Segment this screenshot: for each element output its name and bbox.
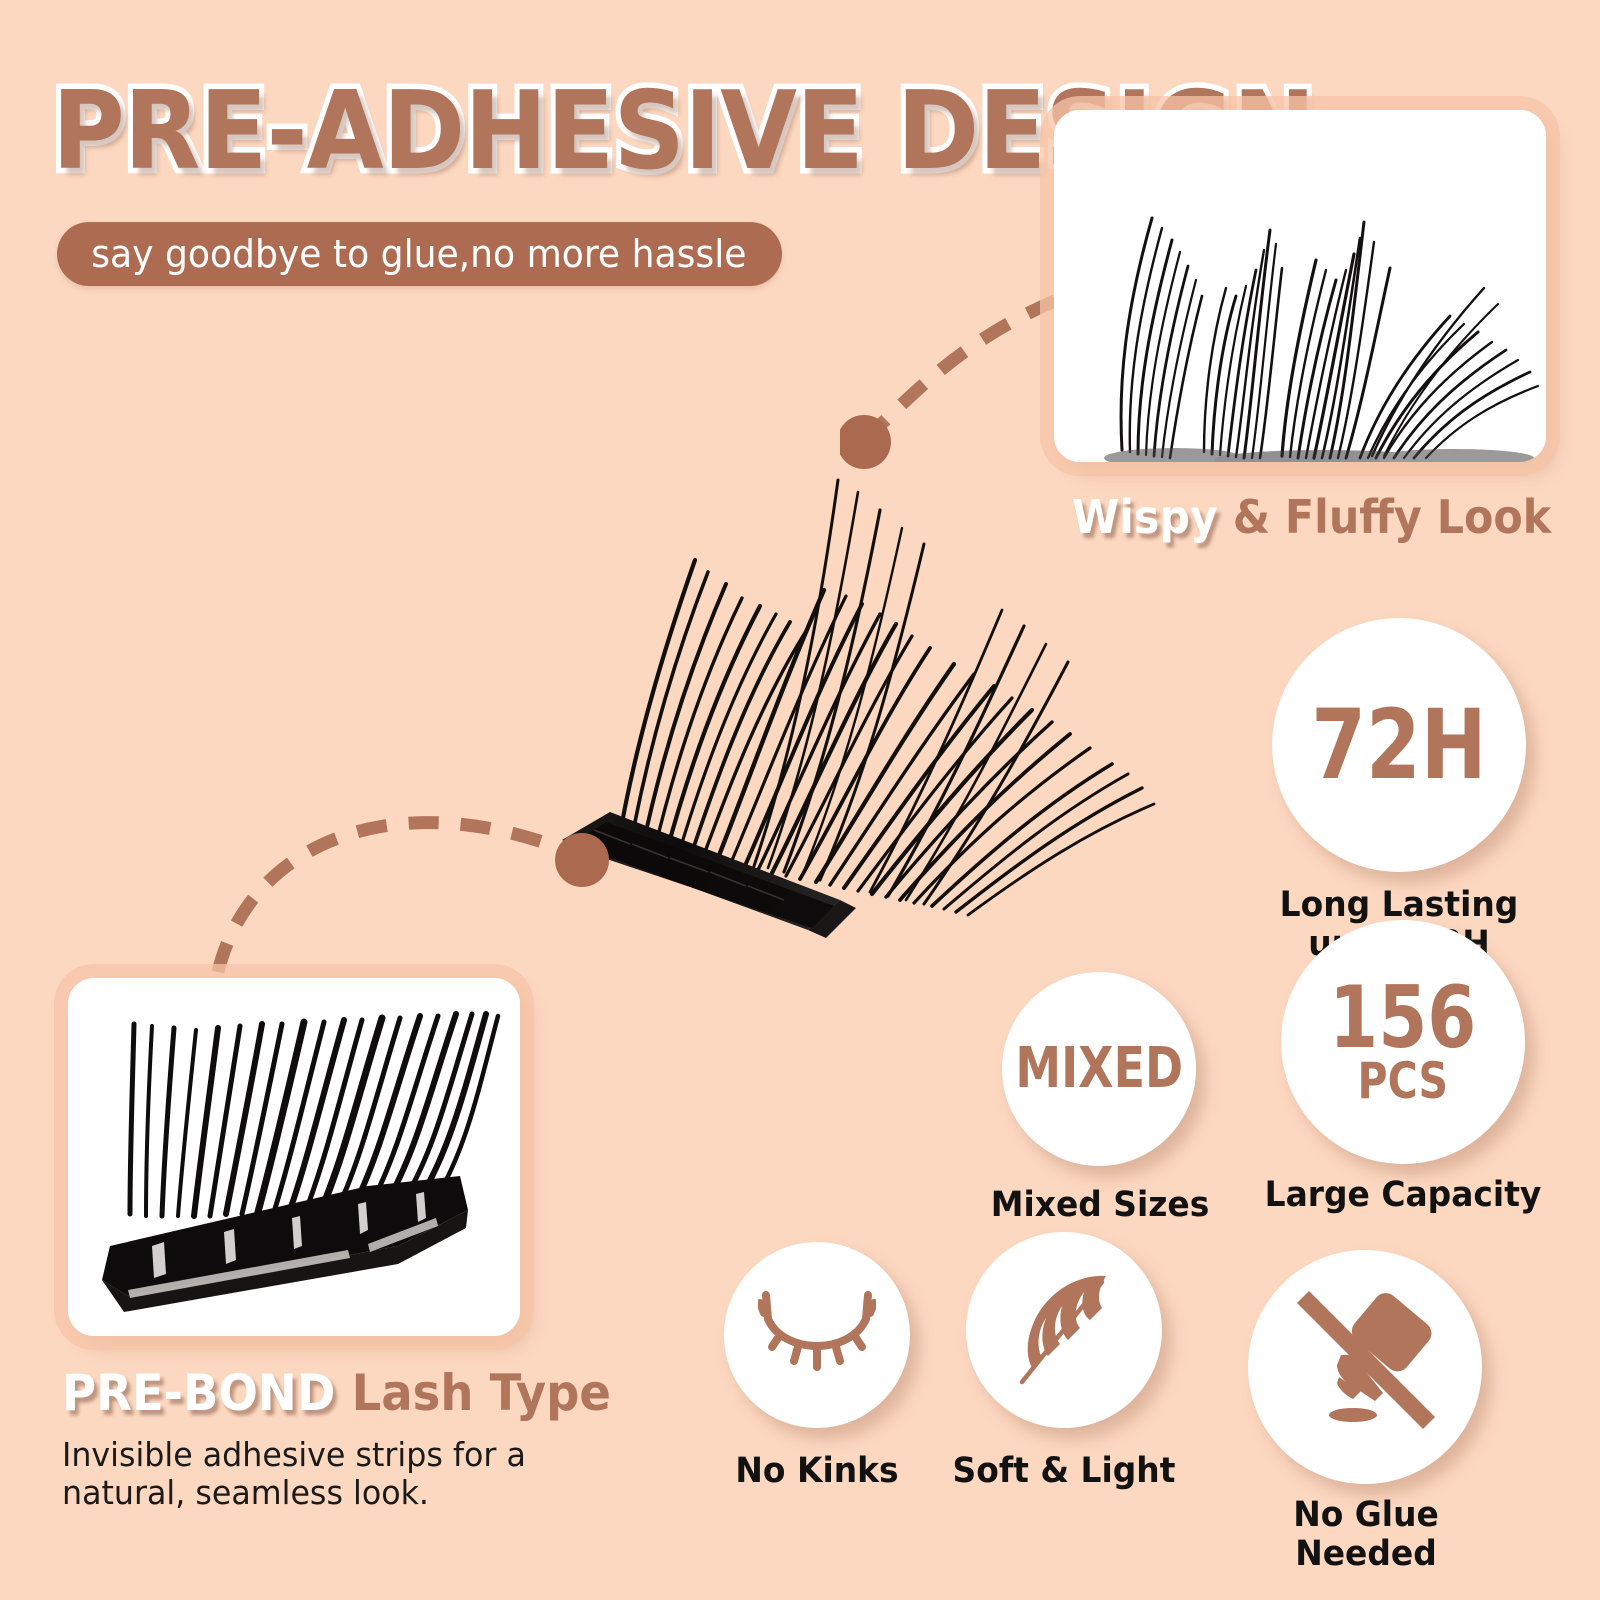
connector-dot-prebond [555,833,609,887]
callout-heading-prebond-brown: Lash Type [352,1364,611,1422]
callout-body-prebond: Invisible adhesive strips for a natural,… [62,1436,638,1513]
callout-heading-wispy: Wispy & Fluffy Look [1072,494,1551,540]
badge-mixed-value: MIXED [1015,1044,1183,1094]
feather-icon [1006,1268,1122,1392]
badge-no-glue[interactable] [1248,1250,1482,1484]
badge-caption-no-kinks: No Kinks [700,1452,935,1491]
callout-heading-prebond: PRE-BOND Lash Type [62,1368,611,1418]
badge-156pcs[interactable]: 156 PCS [1281,920,1525,1164]
subtitle-pill: say goodbye to glue,no more hassle [57,222,782,286]
callout-heading-wispy-white: Wispy [1072,490,1218,544]
photo-card-prebond [68,978,520,1336]
badge-156pcs-value-group: 156 PCS [1329,980,1476,1104]
badge-caption-156pcs: Large Capacity [1237,1176,1570,1215]
callout-heading-wispy-brown: & Fluffy Look [1233,490,1551,544]
closed-eye-lash-icon [758,1289,876,1381]
badge-72h-value: 72H [1311,702,1486,788]
wispy-fluffy-lash-photo [1054,110,1546,462]
photo-card-wispy [1054,110,1546,462]
badge-no-kinks[interactable] [724,1242,910,1428]
badge-mixed[interactable]: MIXED [1002,972,1196,1166]
no-glue-bottle-icon [1279,1281,1451,1453]
connector-line-prebond [190,760,610,990]
badge-soft-light[interactable] [966,1232,1162,1428]
subtitle-text: say goodbye to glue,no more hassle [57,232,746,276]
badge-156pcs-number: 156 [1329,980,1476,1057]
badge-caption-soft-light: Soft & Light [936,1452,1192,1491]
callout-heading-prebond-white: PRE-BOND [62,1364,335,1422]
badge-72h[interactable]: 72H [1272,618,1526,872]
lash-band-closeup-photo [68,978,520,1336]
badge-caption-mixed: Mixed Sizes [970,1186,1229,1225]
infographic-canvas: PRE-ADHESIVE DESIGN say goodbye to glue,… [0,0,1600,1600]
badge-caption-no-glue: No Glue Needed [1231,1496,1502,1573]
